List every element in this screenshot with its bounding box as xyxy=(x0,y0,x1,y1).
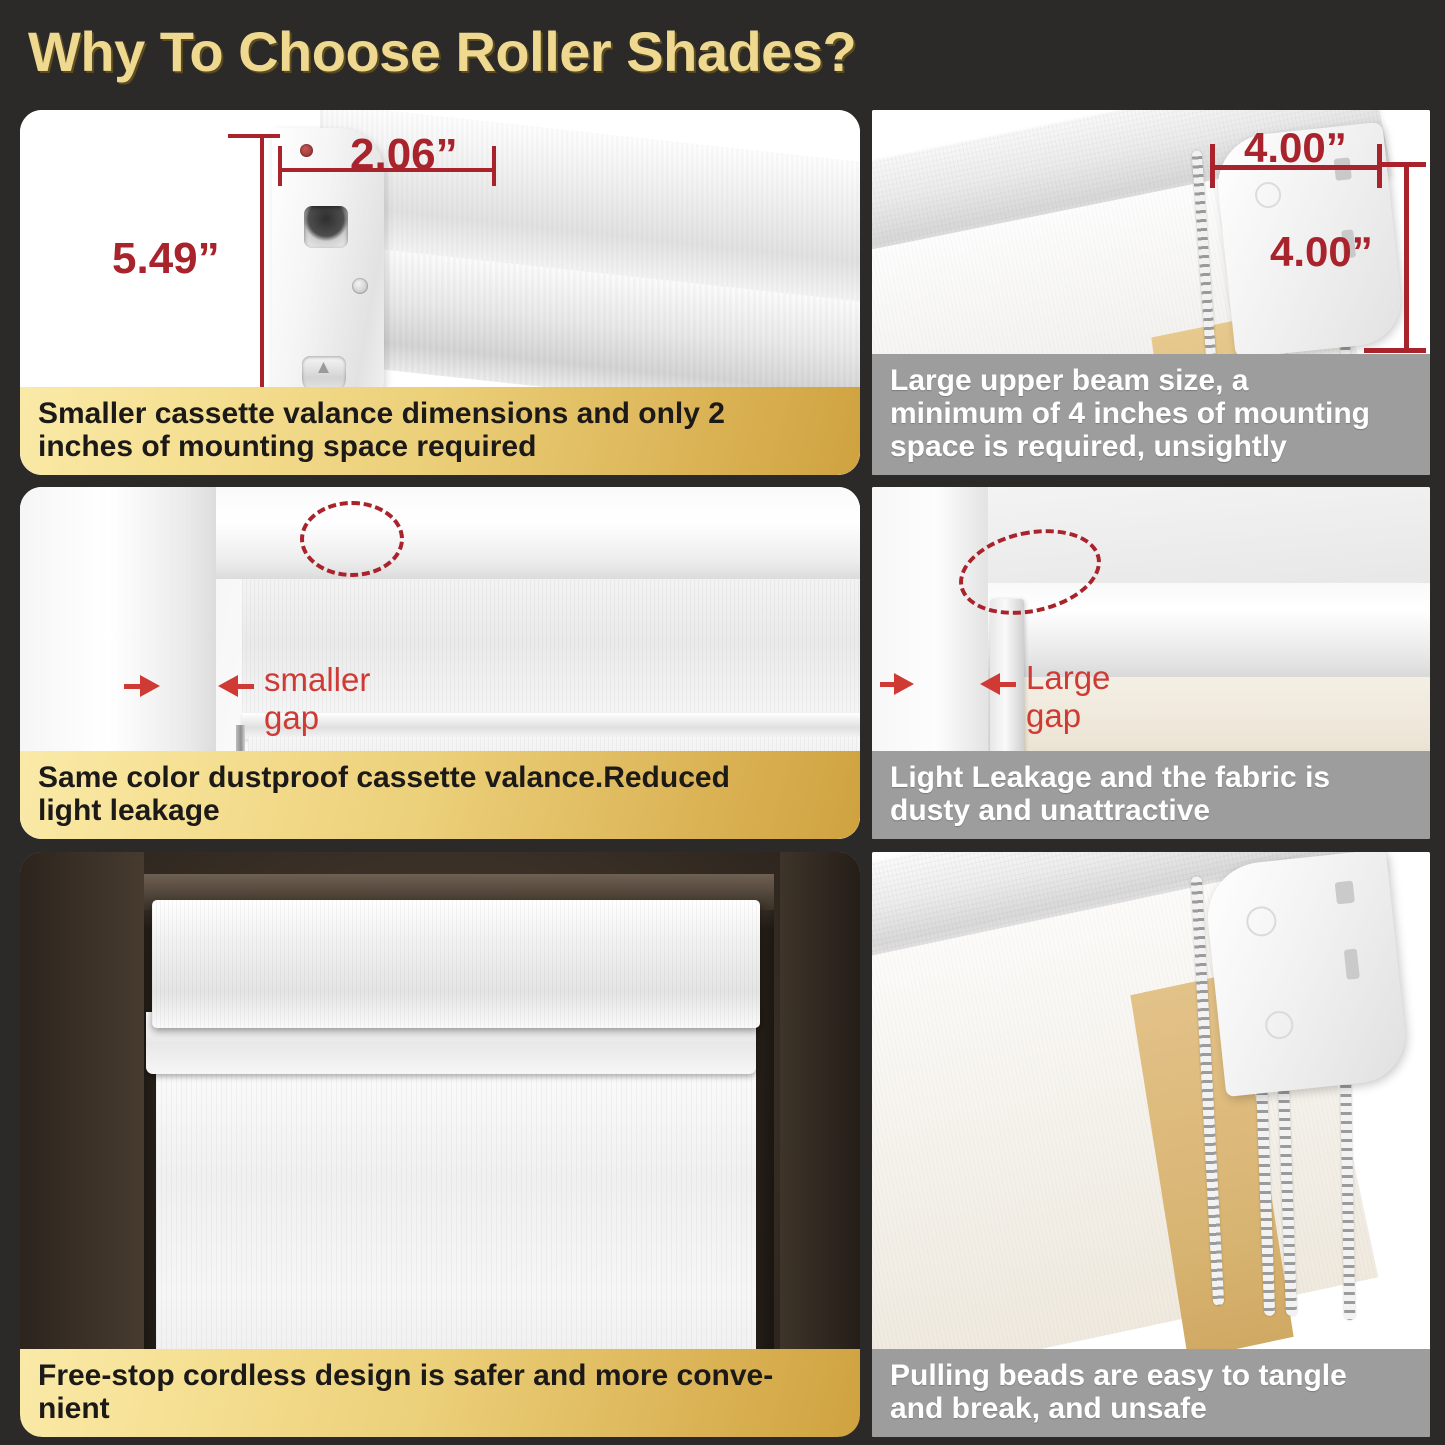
arrow-left-icon xyxy=(218,675,238,697)
caption-line: dusty and unattractive xyxy=(890,794,1416,827)
highlight-circle-icon xyxy=(300,501,404,577)
panel-large-upper-beam[interactable]: 4.00” 4.00” Large upper beam size, a min… xyxy=(872,110,1430,475)
gap-callout-label: Large gap xyxy=(1026,659,1110,735)
panel-cassette-valance[interactable]: 5.49” 2.06” Smaller cassette valance dim… xyxy=(20,110,860,475)
width-dimension-tick-right xyxy=(492,146,496,186)
height-dimension-tick-bottom xyxy=(1364,348,1426,353)
panel-pulling-beads[interactable]: Pulling beads are easy to tangle and bre… xyxy=(872,852,1430,1437)
width-dimension-label: 4.00” xyxy=(1244,124,1347,172)
caption-line: space is required, unsightly xyxy=(890,430,1416,463)
page-title: Why To Choose Roller Shades? xyxy=(0,19,856,84)
caption-line: and break, and unsafe xyxy=(890,1392,1416,1425)
panel-caption: Light Leakage and the fabric is dusty an… xyxy=(872,751,1430,839)
arrow-tail xyxy=(236,684,254,689)
gap-callout-label: smaller gap xyxy=(264,661,370,737)
panel-cordless-design[interactable]: Free-stop cordless design is safer and m… xyxy=(20,852,860,1437)
panel-caption: Free-stop cordless design is safer and m… xyxy=(20,1349,860,1437)
endcap-screw-icon xyxy=(352,278,368,294)
cassette-valance-head xyxy=(152,900,760,1028)
panel-dustproof-cassette[interactable]: smaller gap Same color dustproof cassett… xyxy=(20,487,860,839)
height-dimension-tick-top xyxy=(1380,162,1426,167)
panel-caption: Pulling beads are easy to tangle and bre… xyxy=(872,1349,1430,1437)
arrow-tail xyxy=(124,684,144,689)
width-dimension-tick-left xyxy=(278,146,282,186)
caption-line: minimum of 4 inches of mounting xyxy=(890,397,1416,430)
panel-caption: Smaller cassette valance dimensions and … xyxy=(20,387,860,475)
caption-line: Smaller cassette valance dimensions and … xyxy=(38,397,846,430)
caption-line: Light Leakage and the fabric is xyxy=(890,761,1416,794)
shade-fabric xyxy=(156,1064,756,1394)
endcap-red-screw-icon xyxy=(300,144,313,157)
height-dimension-line xyxy=(260,134,264,426)
height-dimension-label: 5.49” xyxy=(112,234,220,284)
height-dimension-line xyxy=(1404,162,1409,352)
panel-caption: Large upper beam size, a minimum of 4 in… xyxy=(872,354,1430,475)
window-frame-top xyxy=(200,487,860,579)
height-dimension-label: 4.00” xyxy=(1270,228,1373,276)
endcap-slot-icon xyxy=(304,206,348,248)
panel-light-leakage[interactable]: Large gap Light Leakage and the fabric i… xyxy=(872,487,1430,839)
caption-line: Pulling beads are easy to tangle xyxy=(890,1359,1416,1392)
caption-line: Large upper beam size, a xyxy=(890,364,1416,397)
arrow-tail xyxy=(880,682,898,687)
caption-line: light leakage xyxy=(38,794,846,827)
caption-line: Same color dustproof cassette valance.Re… xyxy=(38,761,846,794)
arrow-left-icon xyxy=(980,673,1000,695)
width-dimension-tick-left xyxy=(1210,144,1215,188)
panel-grid: 5.49” 2.06” Smaller cassette valance dim… xyxy=(0,102,1445,1445)
height-dimension-tick-top xyxy=(228,134,280,138)
mounting-bracket xyxy=(1202,852,1409,1097)
caption-line: inches of mounting space required xyxy=(38,430,846,463)
width-dimension-label: 2.06” xyxy=(350,130,458,180)
panel-caption: Same color dustproof cassette valance.Re… xyxy=(20,751,860,839)
arrow-tail xyxy=(998,682,1016,687)
caption-line: Free-stop cordless design is safer and m… xyxy=(38,1359,846,1392)
caption-line: nient xyxy=(38,1392,846,1425)
page-header: Why To Choose Roller Shades? xyxy=(0,0,1445,102)
